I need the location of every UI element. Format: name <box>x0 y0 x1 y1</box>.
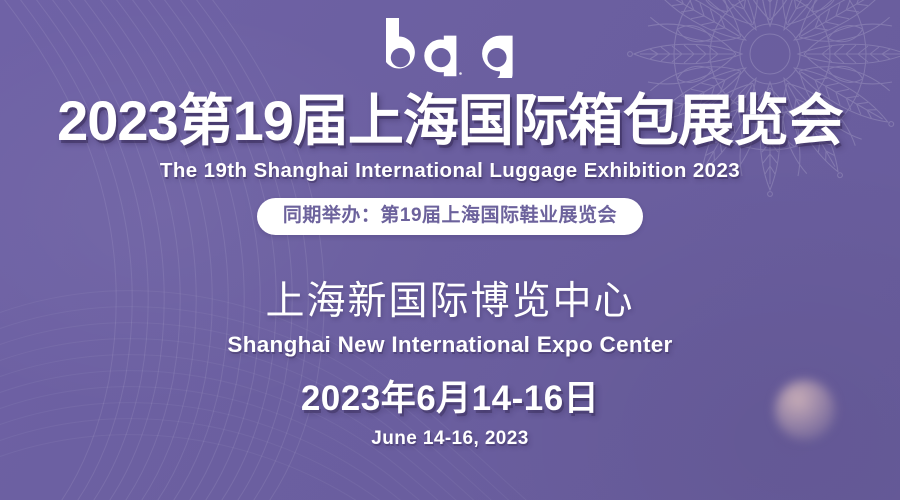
poster-content: bag 2023第19届上海国际箱包展览会 The 19th Shanghai … <box>0 0 900 500</box>
bag-logo: bag <box>384 17 516 79</box>
concurrent-event-badge: 同期举办：第19届上海国际鞋业展览会 <box>257 198 643 235</box>
venue-name-en: Shanghai New International Expo Center <box>227 332 672 358</box>
page-title: 2023第19届上海国际箱包展览会 <box>57 92 843 150</box>
page-subtitle: The 19th Shanghai International Luggage … <box>160 159 740 183</box>
event-date-cn: 2023年6月14-16日 <box>301 370 599 421</box>
event-date-en: June 14-16, 2023 <box>371 428 528 450</box>
venue-name-cn: 上海新国际博览中心 <box>265 270 634 326</box>
exhibition-poster: bag 2023第19届上海国际箱包展览会 The 19th Shanghai … <box>0 0 900 500</box>
